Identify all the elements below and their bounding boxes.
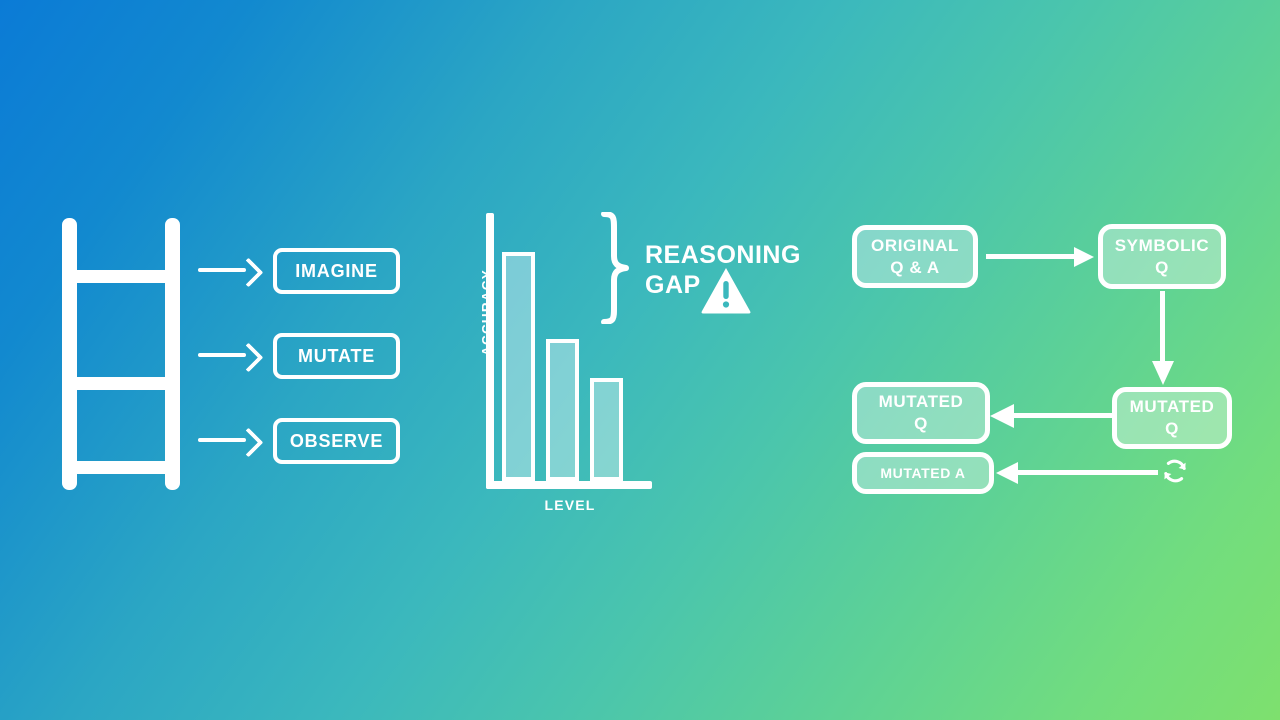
- arrow-shaft: [1012, 413, 1115, 418]
- stage-label-mutate: MUTATE: [298, 346, 375, 367]
- curly-brace: [600, 212, 634, 324]
- accuracy-bar-chart-panel: ACCURACY LEVEL REASONING GAP: [430, 0, 800, 720]
- chart-bar-level-2: [546, 339, 579, 481]
- node-mutated-q-right-line1: MUTATED: [1130, 397, 1215, 417]
- node-symbolic-q[interactable]: SYMBOLIC Q: [1098, 224, 1226, 289]
- node-mutated-q-left[interactable]: MUTATED Q: [852, 382, 990, 444]
- arrow-head: [990, 404, 1014, 428]
- ladder-rung-3: [75, 461, 167, 474]
- arrow-to-imagine: [198, 257, 260, 283]
- arrow-loop-to-mutated-a: [996, 462, 1158, 484]
- stage-pill-mutate[interactable]: MUTATE: [273, 333, 400, 379]
- refresh-loop-icon[interactable]: [1160, 456, 1190, 486]
- node-symbolic-q-line2: Q: [1155, 258, 1169, 278]
- mutation-pipeline-panel: ORIGINAL Q & A SYMBOLIC Q MUTATED Q: [800, 0, 1280, 720]
- stage-label-observe: OBSERVE: [290, 431, 383, 452]
- arrow-shaft: [1016, 470, 1158, 475]
- arrow-to-mutate: [198, 342, 260, 368]
- arrow-head: [234, 428, 264, 458]
- chart-x-axis-label: LEVEL: [515, 497, 625, 513]
- node-mutated-q-left-line1: MUTATED: [879, 392, 964, 412]
- arrow-head: [234, 343, 264, 373]
- node-symbolic-q-line1: SYMBOLIC: [1115, 236, 1210, 256]
- arrow-original-to-symbolic: [986, 247, 1096, 267]
- node-mutated-q-left-line2: Q: [914, 414, 928, 434]
- diagram-canvas: IMAGINE MUTATE OBSERVE ACCURACY LEVEL: [0, 0, 1280, 720]
- arrow-shaft: [1160, 291, 1165, 365]
- node-mutated-q-right[interactable]: MUTATED Q: [1112, 387, 1232, 449]
- ladder-rung-2: [75, 377, 167, 390]
- ladder-rail-left: [62, 218, 77, 490]
- warning-triangle-icon: [700, 265, 752, 315]
- arrow-shaft: [986, 254, 1078, 259]
- arrow-mutated-right-to-left: [990, 404, 1115, 428]
- arrow-to-observe: [198, 427, 260, 453]
- chart-bar-level-1: [502, 252, 535, 481]
- arrow-symbolic-to-mutated: [1152, 291, 1174, 387]
- arrow-head: [1152, 361, 1174, 385]
- node-original-qa-line1: ORIGINAL: [871, 236, 959, 256]
- chart-x-axis: [486, 481, 652, 489]
- stage-pill-observe[interactable]: OBSERVE: [273, 418, 400, 464]
- ladder-rail-right: [165, 218, 180, 490]
- ladder-icon: [62, 218, 180, 490]
- arrow-head: [996, 462, 1018, 484]
- stage-pill-imagine[interactable]: IMAGINE: [273, 248, 400, 294]
- ladder-rung-1: [75, 270, 167, 283]
- node-mutated-a[interactable]: MUTATED A: [852, 452, 994, 494]
- node-mutated-q-right-line2: Q: [1165, 419, 1179, 439]
- node-original-qa[interactable]: ORIGINAL Q & A: [852, 225, 978, 288]
- arrow-head: [1074, 247, 1094, 267]
- chart-y-axis-label: ACCURACY: [480, 253, 495, 373]
- stage-label-imagine: IMAGINE: [295, 261, 378, 282]
- chart-bar-level-3: [590, 378, 623, 481]
- node-mutated-a-label: MUTATED A: [880, 465, 965, 481]
- ladder-stages-panel: IMAGINE MUTATE OBSERVE: [0, 0, 430, 720]
- arrow-head: [234, 258, 264, 288]
- node-original-qa-line2: Q & A: [890, 258, 940, 278]
